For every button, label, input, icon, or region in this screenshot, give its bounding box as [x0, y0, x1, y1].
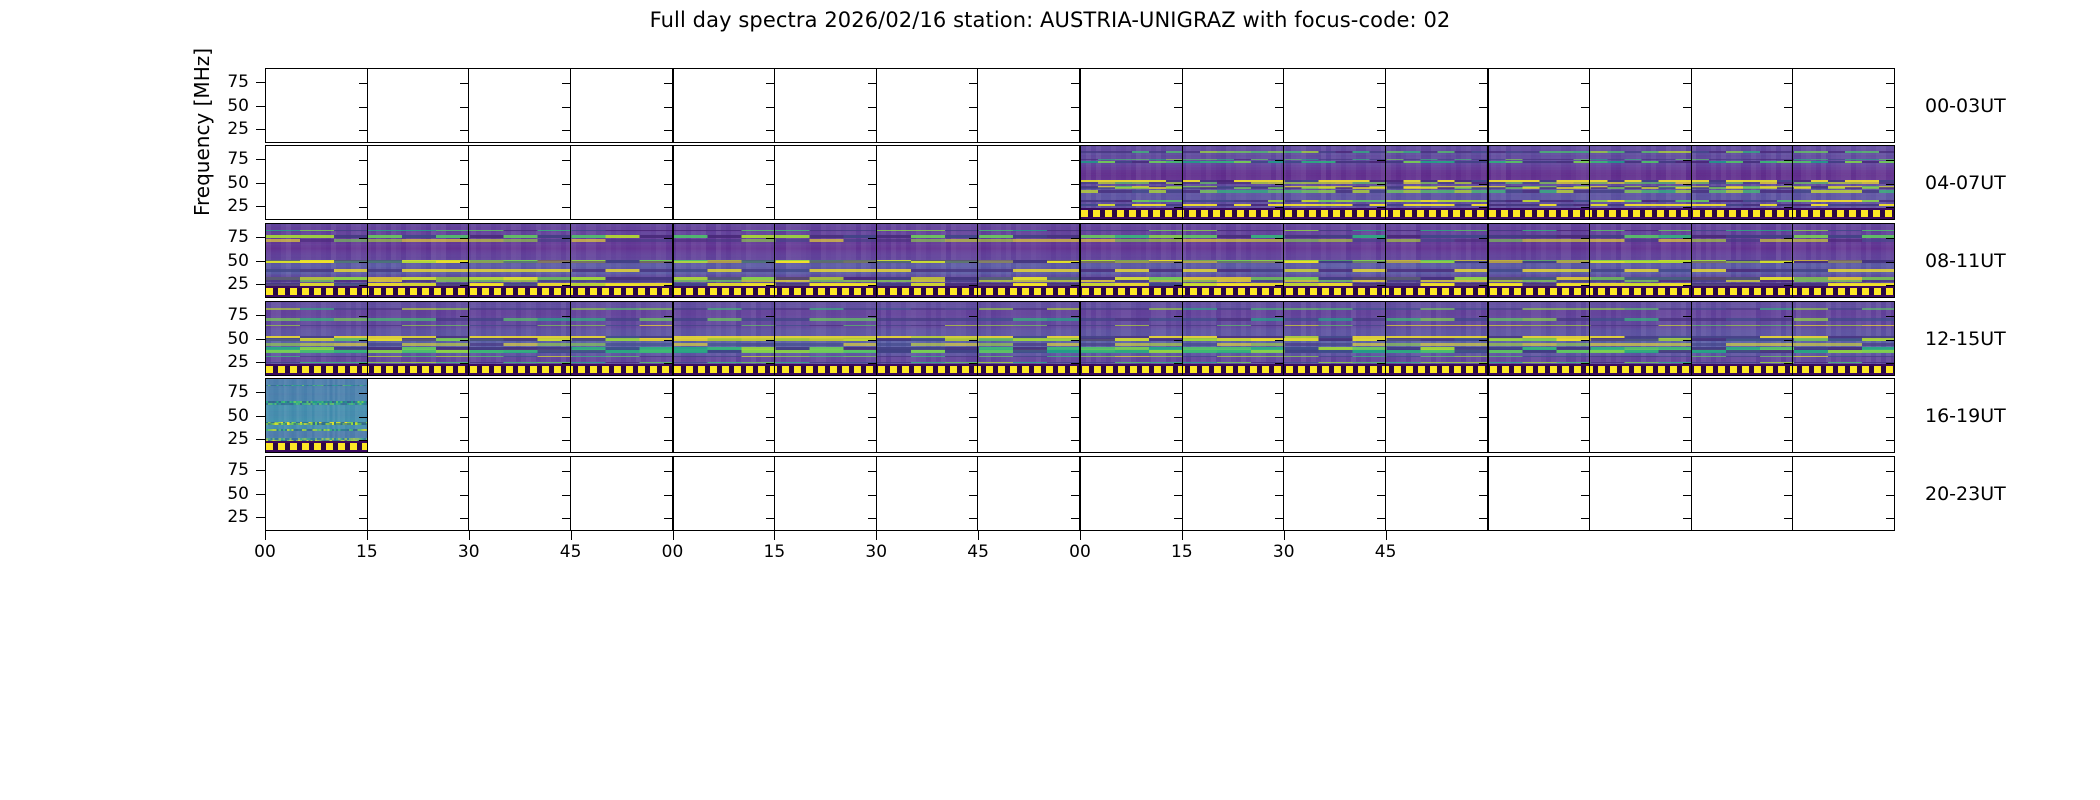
- y-tick-minor: [1174, 518, 1182, 519]
- y-tick-minor: [766, 440, 774, 441]
- y-tick-minor: [1581, 417, 1589, 418]
- y-tick-minor: [359, 83, 367, 84]
- y-tick-minor: [1275, 471, 1283, 472]
- y-tick-minor: [868, 471, 876, 472]
- spectrogram-row: [265, 301, 1895, 376]
- panel-cell: [674, 69, 776, 142]
- panel-cell: [469, 146, 571, 219]
- rfi-streak: [266, 318, 1895, 321]
- y-tick-label: 75: [203, 149, 249, 169]
- panel-cell: [1489, 379, 1591, 452]
- y-tick-minor: [1174, 440, 1182, 441]
- rfi-streak: [266, 338, 1895, 341]
- y-tick-minor: [460, 207, 468, 208]
- y-tick-minor: [969, 393, 977, 394]
- y-tick-minor: [1275, 393, 1283, 394]
- y-tick-minor: [766, 495, 774, 496]
- x-tick: [469, 531, 470, 540]
- y-tick-minor: [1071, 107, 1079, 108]
- y-tick-minor: [1784, 83, 1792, 84]
- y-tick-minor: [664, 518, 672, 519]
- y-tick-minor: [460, 393, 468, 394]
- y-tick-label: 75: [203, 460, 249, 480]
- y-tick-minor: [766, 471, 774, 472]
- panel-cell: [1793, 457, 1894, 530]
- panel-cell: [571, 146, 674, 219]
- y-tick-minor: [766, 107, 774, 108]
- y-tick-minor: [1377, 83, 1385, 84]
- rfi-streak: [1081, 200, 1895, 202]
- y-tick-minor: [868, 417, 876, 418]
- y-tick-minor: [359, 184, 367, 185]
- y-tick-minor: [562, 107, 570, 108]
- x-tick-label: 45: [967, 542, 989, 562]
- panel-cell: [1590, 457, 1692, 530]
- panel-separators: [266, 379, 1894, 452]
- y-tick-minor: [664, 393, 672, 394]
- panel-separators: [266, 69, 1894, 142]
- rfi-streak: [266, 239, 1895, 242]
- panel-cell: [775, 146, 877, 219]
- y-tick-minor: [1071, 184, 1079, 185]
- y-tick-label: 50: [203, 329, 249, 349]
- y-tick-minor: [1581, 495, 1589, 496]
- y-tick-minor: [664, 130, 672, 131]
- panel-cell: [1793, 379, 1894, 452]
- y-tick-minor: [1377, 518, 1385, 519]
- rfi-streak: [266, 429, 368, 431]
- y-tick-minor: [1071, 130, 1079, 131]
- y-tick-minor: [664, 207, 672, 208]
- panel-cell: [1692, 379, 1794, 452]
- y-tick: [256, 416, 265, 417]
- x-tick-label: 00: [662, 542, 684, 562]
- y-tick-minor: [1479, 130, 1487, 131]
- y-tick-minor: [460, 518, 468, 519]
- y-tick: [256, 206, 265, 207]
- panel-cell: [775, 457, 877, 530]
- y-tick-minor: [1174, 417, 1182, 418]
- y-tick-minor: [562, 184, 570, 185]
- y-tick-minor: [766, 160, 774, 161]
- y-tick-minor: [664, 160, 672, 161]
- y-tick-minor: [1683, 495, 1691, 496]
- panel-cell: [1590, 379, 1692, 452]
- x-tick-label: 00: [1069, 542, 1091, 562]
- panel-cell: [469, 69, 571, 142]
- y-tick-minor: [1784, 471, 1792, 472]
- y-tick-minor: [868, 518, 876, 519]
- y-tick-minor: [766, 393, 774, 394]
- y-tick: [256, 517, 265, 518]
- y-tick-minor: [1683, 393, 1691, 394]
- y-tick-minor: [1581, 83, 1589, 84]
- panel-cell: [1386, 379, 1489, 452]
- x-tick: [571, 531, 572, 540]
- saturation-dash-band: [1081, 208, 1895, 219]
- spectrogram-row: [265, 378, 1895, 453]
- x-tick: [673, 531, 674, 540]
- y-tick-label: 25: [203, 274, 249, 294]
- y-tick-minor: [1479, 83, 1487, 84]
- y-tick-minor: [359, 207, 367, 208]
- y-tick-minor: [1784, 417, 1792, 418]
- panel-cell: [877, 379, 979, 452]
- panel-cell: [877, 146, 979, 219]
- y-tick-label: 50: [203, 96, 249, 116]
- y-tick-label: 75: [203, 227, 249, 247]
- saturation-dash-band: [266, 364, 1895, 375]
- rfi-streak: [1081, 190, 1895, 193]
- y-tick: [256, 284, 265, 285]
- y-tick-minor: [1581, 471, 1589, 472]
- x-tick-label: 30: [865, 542, 887, 562]
- y-tick-minor: [969, 417, 977, 418]
- x-tick-label: 00: [254, 542, 276, 562]
- panel-cell: [571, 379, 674, 452]
- panel-cell: [1692, 457, 1794, 530]
- y-tick-minor: [868, 393, 876, 394]
- y-tick: [256, 439, 265, 440]
- y-tick-minor: [766, 518, 774, 519]
- panel-cell: [266, 457, 368, 530]
- y-tick-minor: [359, 495, 367, 496]
- y-tick-minor: [1377, 495, 1385, 496]
- y-tick-minor: [1377, 130, 1385, 131]
- figure-title: Full day spectra 2026/02/16 station: AUS…: [0, 8, 2100, 32]
- spectrogram-row: [265, 145, 1895, 220]
- y-tick-minor: [460, 130, 468, 131]
- panel-cell: [877, 69, 979, 142]
- y-tick: [256, 183, 265, 184]
- spectrogram-data: [266, 379, 368, 452]
- y-tick-minor: [460, 440, 468, 441]
- rfi-streak: [1081, 182, 1895, 184]
- spectrogram-row: [265, 68, 1895, 143]
- y-tick-minor: [562, 130, 570, 131]
- y-tick-minor: [1683, 83, 1691, 84]
- y-tick-minor: [1377, 417, 1385, 418]
- rfi-streak: [266, 325, 1895, 326]
- y-tick-label: 25: [203, 352, 249, 372]
- rfi-streak: [266, 343, 1895, 346]
- y-tick-minor: [969, 107, 977, 108]
- y-tick-minor: [1784, 495, 1792, 496]
- y-tick-label: 75: [203, 305, 249, 325]
- y-tick-minor: [1174, 130, 1182, 131]
- y-tick-minor: [562, 393, 570, 394]
- panel-cell: [368, 379, 470, 452]
- panel-cell: [775, 379, 877, 452]
- y-tick-minor: [359, 107, 367, 108]
- y-tick-minor: [868, 440, 876, 441]
- panel-cell: [1489, 69, 1591, 142]
- y-tick-minor: [664, 495, 672, 496]
- y-tick-minor: [1886, 495, 1894, 496]
- x-tick-label: 30: [458, 542, 480, 562]
- x-tick: [1386, 531, 1387, 540]
- y-tick-minor: [1886, 417, 1894, 418]
- y-tick-minor: [1377, 393, 1385, 394]
- y-tick-minor: [1479, 518, 1487, 519]
- panel-cell: [978, 69, 1081, 142]
- x-tick-label: 45: [560, 542, 582, 562]
- y-tick-minor: [460, 83, 468, 84]
- panel-cell: [1183, 69, 1285, 142]
- rfi-streak: [266, 260, 1895, 261]
- y-tick-minor: [1581, 107, 1589, 108]
- y-tick-minor: [562, 495, 570, 496]
- panel-cell: [1386, 69, 1489, 142]
- y-tick-minor: [1174, 393, 1182, 394]
- y-tick-minor: [460, 417, 468, 418]
- y-tick-minor: [1581, 518, 1589, 519]
- y-tick-minor: [562, 440, 570, 441]
- panel-cell: [877, 457, 979, 530]
- y-tick-minor: [1174, 471, 1182, 472]
- y-tick-minor: [562, 207, 570, 208]
- y-tick-minor: [1886, 130, 1894, 131]
- y-tick-minor: [1479, 393, 1487, 394]
- y-tick-minor: [868, 107, 876, 108]
- x-tick-label: 15: [356, 542, 378, 562]
- y-tick-minor: [1886, 518, 1894, 519]
- rfi-streak: [1081, 161, 1895, 163]
- panel-cell: [978, 379, 1081, 452]
- y-tick-minor: [1275, 130, 1283, 131]
- spectrogram-figure: Full day spectra 2026/02/16 station: AUS…: [0, 0, 2100, 800]
- row-label-08-11ut: 08-11UT: [1925, 250, 2006, 272]
- panel-cell: [674, 379, 776, 452]
- y-tick-minor: [664, 83, 672, 84]
- x-tick-label: 30: [1273, 542, 1295, 562]
- panel-cell: [571, 457, 674, 530]
- panel-cell: [775, 69, 877, 142]
- x-tick: [876, 531, 877, 540]
- y-tick-minor: [1683, 417, 1691, 418]
- y-tick-minor: [1886, 440, 1894, 441]
- rfi-streak: [266, 362, 1895, 363]
- y-tick-minor: [1886, 107, 1894, 108]
- row-label-04-07ut: 04-07UT: [1925, 172, 2006, 194]
- y-tick-minor: [1071, 83, 1079, 84]
- y-tick-minor: [1479, 495, 1487, 496]
- y-tick-minor: [1377, 107, 1385, 108]
- y-tick: [256, 315, 265, 316]
- y-tick-minor: [1071, 495, 1079, 496]
- x-tick: [265, 531, 266, 540]
- saturation-dash-band: [266, 441, 368, 452]
- x-tick: [367, 531, 368, 540]
- panel-cell: [1081, 69, 1183, 142]
- y-tick-minor: [1071, 417, 1079, 418]
- y-tick-minor: [664, 107, 672, 108]
- y-tick-minor: [1174, 107, 1182, 108]
- y-tick-minor: [359, 160, 367, 161]
- panel-cell: [1489, 457, 1591, 530]
- y-tick-minor: [868, 184, 876, 185]
- y-tick: [256, 261, 265, 262]
- x-tick: [774, 531, 775, 540]
- rfi-streak: [266, 261, 1895, 263]
- y-tick-minor: [969, 440, 977, 441]
- y-tick-minor: [664, 440, 672, 441]
- panel-cell: [978, 457, 1081, 530]
- y-tick-minor: [1174, 83, 1182, 84]
- y-tick-minor: [1275, 107, 1283, 108]
- rfi-streak: [1081, 187, 1895, 189]
- panel-cell: [368, 146, 470, 219]
- panel-cell: [978, 146, 1081, 219]
- rfi-streak: [266, 235, 1895, 238]
- y-tick: [256, 237, 265, 238]
- y-tick-minor: [1377, 440, 1385, 441]
- y-tick-minor: [969, 160, 977, 161]
- y-tick-minor: [1683, 471, 1691, 472]
- x-tick: [1284, 531, 1285, 540]
- y-tick-label: 25: [203, 507, 249, 527]
- y-tick: [256, 494, 265, 495]
- y-tick-label: 25: [203, 429, 249, 449]
- spectrogram-data: [266, 302, 1895, 375]
- y-tick-minor: [664, 417, 672, 418]
- y-tick-label: 50: [203, 251, 249, 271]
- rfi-streak: [1081, 204, 1895, 206]
- y-tick-minor: [1683, 107, 1691, 108]
- y-tick: [256, 129, 265, 130]
- y-tick-minor: [562, 160, 570, 161]
- panel-cell: [1081, 457, 1183, 530]
- y-tick: [256, 470, 265, 471]
- y-tick-minor: [664, 184, 672, 185]
- x-axis: 001530450015304500153045: [265, 531, 1895, 581]
- y-tick-minor: [1071, 160, 1079, 161]
- spectrogram-data: [266, 224, 1895, 297]
- panel-cell: [1183, 379, 1285, 452]
- y-tick-minor: [969, 518, 977, 519]
- panel-cell: [368, 457, 470, 530]
- rfi-streak: [1081, 159, 1895, 160]
- panel-cell: [674, 457, 776, 530]
- y-tick-minor: [562, 471, 570, 472]
- y-tick-minor: [1479, 107, 1487, 108]
- x-tick-label: 45: [1375, 542, 1397, 562]
- y-tick-minor: [1275, 440, 1283, 441]
- spectrogram-data: [1081, 146, 1895, 219]
- panel-cell: [266, 69, 368, 142]
- row-label-00-03ut: 00-03UT: [1925, 95, 2006, 117]
- y-tick-minor: [1479, 440, 1487, 441]
- panel-cell: [1284, 457, 1386, 530]
- rfi-streak: [266, 350, 1895, 353]
- panel-cell: [266, 146, 368, 219]
- y-tick-minor: [868, 83, 876, 84]
- y-tick-minor: [1174, 495, 1182, 496]
- spectrogram-row: [265, 456, 1895, 531]
- panel-cell: [674, 146, 776, 219]
- panel-cell: [1284, 69, 1386, 142]
- panel-cell: [571, 69, 674, 142]
- y-tick-label: 50: [203, 406, 249, 426]
- rfi-streak: [266, 230, 1895, 231]
- y-tick: [256, 106, 265, 107]
- y-tick-minor: [1784, 440, 1792, 441]
- y-tick-minor: [359, 130, 367, 131]
- y-tick-minor: [766, 83, 774, 84]
- y-tick-label: 75: [203, 72, 249, 92]
- y-tick-minor: [868, 495, 876, 496]
- panel-cell: [1284, 379, 1386, 452]
- y-tick-label: 75: [203, 382, 249, 402]
- y-tick-label: 25: [203, 119, 249, 139]
- y-tick-minor: [766, 130, 774, 131]
- y-tick-label: 50: [203, 484, 249, 504]
- y-tick-minor: [562, 417, 570, 418]
- y-tick-minor: [1886, 83, 1894, 84]
- y-tick-minor: [1275, 83, 1283, 84]
- x-tick: [978, 531, 979, 540]
- y-tick-minor: [1784, 107, 1792, 108]
- y-tick-minor: [1377, 471, 1385, 472]
- panel-cell: [469, 457, 571, 530]
- x-tick-label: 15: [764, 542, 786, 562]
- y-tick-minor: [1683, 130, 1691, 131]
- y-tick: [256, 339, 265, 340]
- panel-cell: [469, 379, 571, 452]
- y-tick-label: 25: [203, 196, 249, 216]
- y-tick-minor: [1683, 518, 1691, 519]
- y-tick-minor: [868, 160, 876, 161]
- y-tick-minor: [562, 83, 570, 84]
- y-tick-minor: [1886, 393, 1894, 394]
- y-tick-minor: [460, 495, 468, 496]
- row-label-12-15ut: 12-15UT: [1925, 328, 2006, 350]
- spectrogram-row: [265, 223, 1895, 298]
- rfi-streak: [266, 423, 368, 425]
- y-tick-minor: [1581, 130, 1589, 131]
- y-tick-minor: [766, 207, 774, 208]
- rfi-streak: [266, 401, 368, 403]
- y-tick-minor: [1683, 440, 1691, 441]
- row-label-20-23ut: 20-23UT: [1925, 483, 2006, 505]
- y-tick-minor: [1886, 471, 1894, 472]
- y-tick-minor: [460, 471, 468, 472]
- rfi-streak: [266, 277, 1895, 280]
- y-tick-label: 50: [203, 173, 249, 193]
- rfi-streak: [1081, 151, 1895, 153]
- y-tick-minor: [969, 184, 977, 185]
- y-tick-minor: [1784, 393, 1792, 394]
- x-tick-label: 15: [1171, 542, 1193, 562]
- y-tick-minor: [1479, 417, 1487, 418]
- y-tick: [256, 362, 265, 363]
- y-tick-minor: [766, 184, 774, 185]
- rfi-streak: [266, 308, 1895, 310]
- panel-cell: [1183, 457, 1285, 530]
- saturation-dash-band: [266, 286, 1895, 297]
- y-tick-minor: [1071, 207, 1079, 208]
- y-tick-minor: [969, 471, 977, 472]
- panel-cell: [1590, 69, 1692, 142]
- rfi-streak: [266, 356, 1895, 357]
- y-tick-minor: [766, 417, 774, 418]
- y-tick-minor: [969, 130, 977, 131]
- y-tick: [256, 159, 265, 160]
- y-tick-minor: [359, 518, 367, 519]
- panel-cell: [1386, 457, 1489, 530]
- y-tick-minor: [1784, 518, 1792, 519]
- x-tick: [1080, 531, 1081, 540]
